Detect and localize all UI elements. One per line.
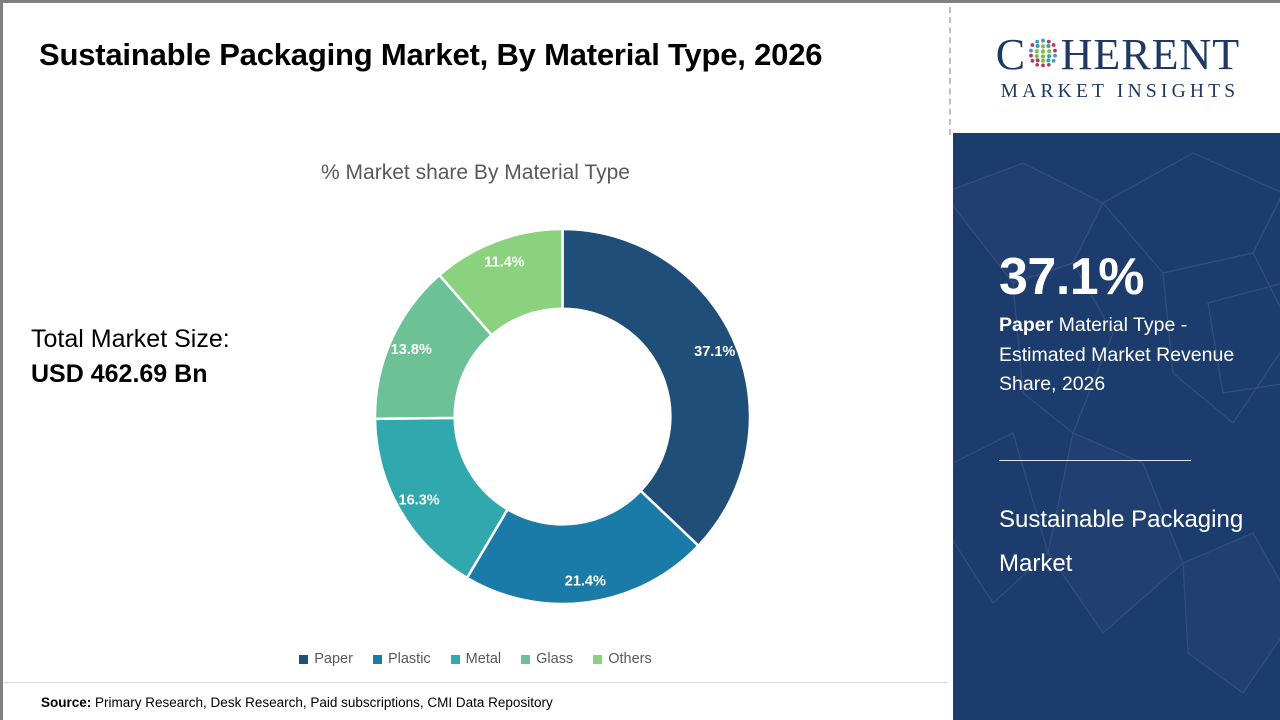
legend-swatch-icon: [299, 655, 308, 664]
stat-description: Paper Material Type - Estimated Market R…: [999, 311, 1244, 400]
market-name: Sustainable Packaging Market: [999, 498, 1261, 585]
legend-item-others[interactable]: Others: [593, 651, 652, 667]
chart-panel: Sustainable Packaging Market, By Materia…: [3, 3, 948, 720]
donut-slice-paper[interactable]: [563, 229, 751, 546]
footer-divider: [3, 682, 948, 683]
total-market-size-block: Total Market Size: USD 462.69 Bn: [31, 323, 331, 390]
legend-swatch-icon: [451, 655, 460, 664]
legend-label: Others: [608, 651, 652, 667]
donut-slice-label-others: 11.4%: [484, 254, 524, 270]
panel-dashed-divider: [949, 7, 951, 135]
stat-value: 37.1%: [999, 251, 1144, 303]
source-note: Source: Primary Research, Desk Research,…: [41, 695, 553, 710]
total-market-size-value: USD 462.69 Bn: [31, 358, 331, 391]
logo-wordmark-rest: HERENT: [1061, 33, 1241, 77]
legend-item-paper[interactable]: Paper: [299, 651, 353, 667]
source-text: Primary Research, Desk Research, Paid su…: [95, 695, 553, 710]
highlight-content: 37.1% Paper Material Type - Estimated Ma…: [999, 133, 1271, 720]
legend-swatch-icon: [593, 655, 602, 664]
chart-legend: PaperPlasticMetalGlassOthers: [3, 651, 948, 667]
panel-divider-line: [999, 460, 1191, 461]
dotted-globe-icon: [1026, 35, 1060, 74]
legend-label: Metal: [466, 651, 501, 667]
donut-chart: 37.1%21.4%16.3%13.8%11.4%: [375, 229, 750, 604]
donut-slice-label-paper: 37.1%: [694, 344, 735, 360]
donut-slice-label-metal: 16.3%: [399, 492, 440, 508]
legend-label: Plastic: [388, 651, 431, 667]
logo-letter-c: C: [996, 33, 1026, 77]
donut-slice-label-glass: 13.8%: [391, 342, 432, 358]
stat-description-highlight: Paper: [999, 314, 1053, 336]
legend-swatch-icon: [373, 655, 382, 664]
chart-subtitle: % Market share By Material Type: [3, 161, 948, 185]
infographic-slide: Sustainable Packaging Market, By Materia…: [0, 0, 1280, 720]
legend-item-plastic[interactable]: Plastic: [373, 651, 431, 667]
page-title: Sustainable Packaging Market, By Materia…: [39, 33, 919, 77]
total-market-size-label: Total Market Size:: [31, 323, 331, 356]
brand-panel: C: [953, 3, 1280, 720]
company-logo: C: [953, 3, 1280, 133]
legend-item-glass[interactable]: Glass: [521, 651, 573, 667]
legend-label: Glass: [536, 651, 573, 667]
legend-label: Paper: [314, 651, 353, 667]
donut-slice-group: [375, 229, 750, 604]
legend-item-metal[interactable]: Metal: [451, 651, 501, 667]
logo-tagline: MARKET INSIGHTS: [997, 81, 1240, 103]
donut-slice-label-plastic: 21.4%: [565, 574, 606, 590]
highlight-panel: 37.1% Paper Material Type - Estimated Ma…: [953, 133, 1280, 720]
logo-wordmark: C: [996, 34, 1240, 76]
legend-swatch-icon: [521, 655, 530, 664]
donut-chart-svg: 37.1%21.4%16.3%13.8%11.4%: [375, 229, 750, 604]
source-label: Source:: [41, 695, 91, 710]
